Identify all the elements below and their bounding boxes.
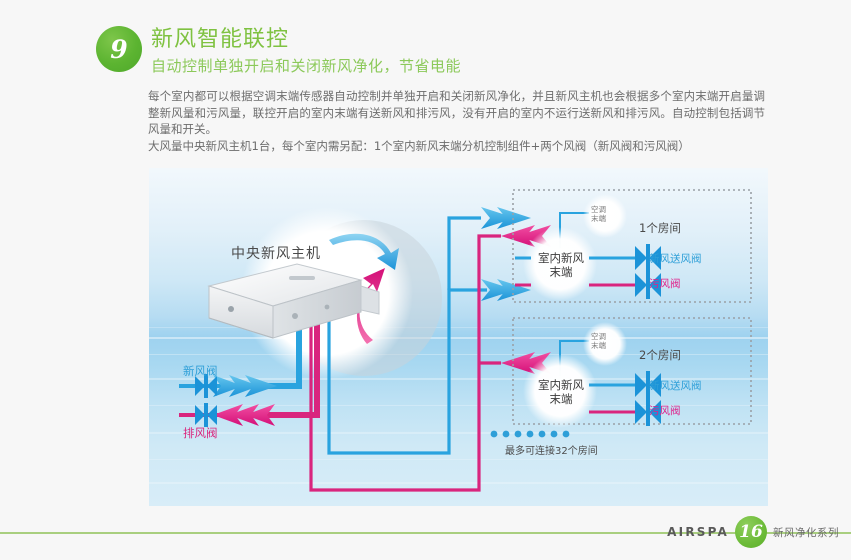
connection-dots [491, 431, 570, 438]
page-title: 新风智能联控 [151, 26, 796, 54]
page-number-badge: 16 [735, 516, 767, 548]
page-header: 9 新风智能联控 自动控制单独开启和关闭新风净化，节省电能 [96, 26, 796, 76]
page-subtitle: 自动控制单独开启和关闭新风净化，节省电能 [151, 57, 796, 77]
ac-terminal-line2: 末端 [591, 341, 606, 350]
indoor-terminal-line1: 室内新风 [518, 251, 604, 265]
indoor-terminal-label-1: 室内新风 末端 [518, 251, 604, 279]
brand-logo: AIRSPA [667, 525, 729, 539]
title-block: 新风智能联控 自动控制单独开启和关闭新风净化，节省电能 [151, 26, 796, 76]
indoor-terminal-label-2: 室内新风 末端 [518, 378, 604, 406]
dirty-valve-label-room2: 污风阀 [649, 405, 681, 418]
room-count-label-1: 1个房间 [639, 221, 681, 235]
supply-valve-label-room2: 新风送风阀 [649, 380, 702, 393]
indoor-terminal-line2: 末端 [518, 265, 604, 279]
page-footer: AIRSPA 16 新风净化系列 [667, 516, 839, 548]
ac-terminal-line1: 空调 [591, 205, 606, 214]
ac-terminal-label-room1: 空调 末端 [591, 205, 606, 224]
ac-terminal-label-room2: 空调 末端 [591, 332, 606, 351]
host-label: 中央新风主机 [231, 246, 321, 264]
diagram-svg [149, 168, 768, 506]
arrow-exhaust-valve [213, 404, 275, 426]
body-paragraph-2: 大风量中央新风主机1台，每个室内需另配：1个室内新风末端分机控制组件+两个风阀（… [148, 138, 765, 155]
body-paragraph-1: 每个室内都可以根据空调末端传感器自动控制并单独开启和关闭新风净化，并且新风主机也… [148, 88, 765, 138]
ac-terminal-line2: 末端 [591, 214, 606, 223]
body-copy: 每个室内都可以根据空调末端传感器自动控制并单独开启和关闭新风净化，并且新风主机也… [148, 88, 765, 154]
max-rooms-note: 最多可连接32个房间 [505, 446, 598, 459]
system-diagram: 中央新风主机 新风阀 排风阀 空调 末端 空调 末端 1个房间 2个房间 室内新… [149, 168, 768, 506]
series-label: 新风净化系列 [773, 525, 839, 540]
ac-terminal-line1: 空调 [591, 332, 606, 341]
fresh-air-valve-label: 新风阀 [183, 364, 218, 378]
section-number-badge: 9 [96, 26, 142, 72]
indoor-terminal-line1: 室内新风 [518, 378, 604, 392]
dirty-valve-label-room1: 污风阀 [649, 278, 681, 291]
arrow-supply-room1 [481, 207, 531, 229]
arrow-supply-room2 [481, 279, 531, 301]
room-count-label-2: 2个房间 [639, 348, 681, 362]
valve-icon-exhaust [195, 403, 217, 427]
exhaust-valve-label: 排风阀 [183, 426, 218, 440]
indoor-terminal-line2: 末端 [518, 392, 604, 406]
pipe-supply-branch-room1 [449, 218, 481, 290]
arrow-fresh-valve [213, 375, 277, 397]
supply-valve-label-room1: 新风送风阀 [649, 253, 702, 266]
